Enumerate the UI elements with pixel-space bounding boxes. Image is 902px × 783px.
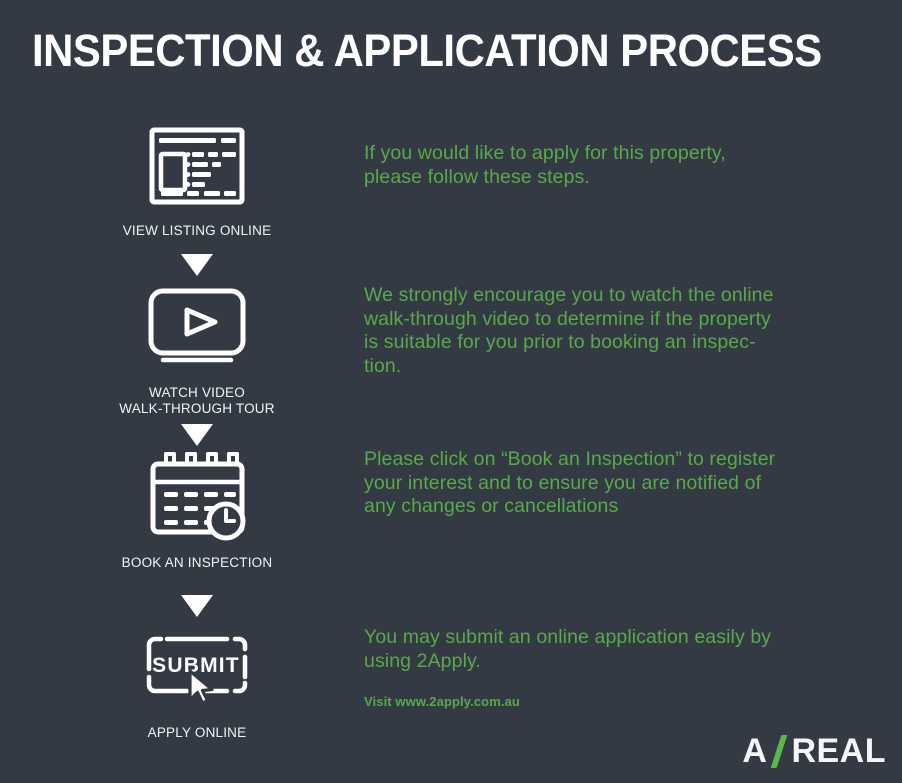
video-monitor-play-icon [96,280,298,376]
step-2-copy: We strongly encourage you to watch the o… [364,284,834,378]
logo-text: A REAL [742,734,886,768]
step-4-copy: You may submit an online application eas… [364,626,834,673]
calendar-clock-icon [96,450,298,546]
logo-text-left: A [742,734,767,768]
step-1-copy-column: If you would like to apply for this prop… [364,142,834,189]
step-4-icon-column: SUBMIT APPLY ONLINE [96,620,298,741]
visit-link[interactable]: Visit www.2apply.com.au [364,694,834,710]
logo-text-right: REAL [791,734,886,768]
step-1-icon-column: VIEW LISTING ONLINE [96,118,298,239]
step-2-copy-column: We strongly encourage you to watch the o… [364,284,834,378]
step-3-icon-column: BOOK AN INSPECTION [96,450,298,571]
logo-slash-icon [768,734,790,768]
infographic-page: INSPECTION & APPLICATION PROCESS [0,0,902,783]
browser-window-icon [96,118,298,214]
svg-text:SUBMIT: SUBMIT [152,654,240,677]
down-arrow-3 [96,595,298,617]
down-arrow-1 [96,254,298,276]
step-2-label: WATCH VIDEO WALK-THROUGH TOUR [96,385,298,417]
step-4-label: APPLY ONLINE [96,725,298,741]
page-title: INSPECTION & APPLICATION PROCESS [32,24,822,78]
down-arrow-2 [96,424,298,446]
step-1-label: VIEW LISTING ONLINE [96,223,298,239]
step-3-copy: Please click on “Book an Inspection” to … [364,448,834,519]
step-3-copy-column: Please click on “Book an Inspection” to … [364,448,834,519]
step-3-label: BOOK AN INSPECTION [96,555,298,571]
brand-logo: A REAL [742,731,886,771]
step-2-icon-column: WATCH VIDEO WALK-THROUGH TOUR [96,280,298,417]
submit-button-cursor-icon: SUBMIT [96,620,298,716]
step-1-copy: If you would like to apply for this prop… [364,142,834,189]
step-4-copy-column: You may submit an online application eas… [364,626,834,710]
